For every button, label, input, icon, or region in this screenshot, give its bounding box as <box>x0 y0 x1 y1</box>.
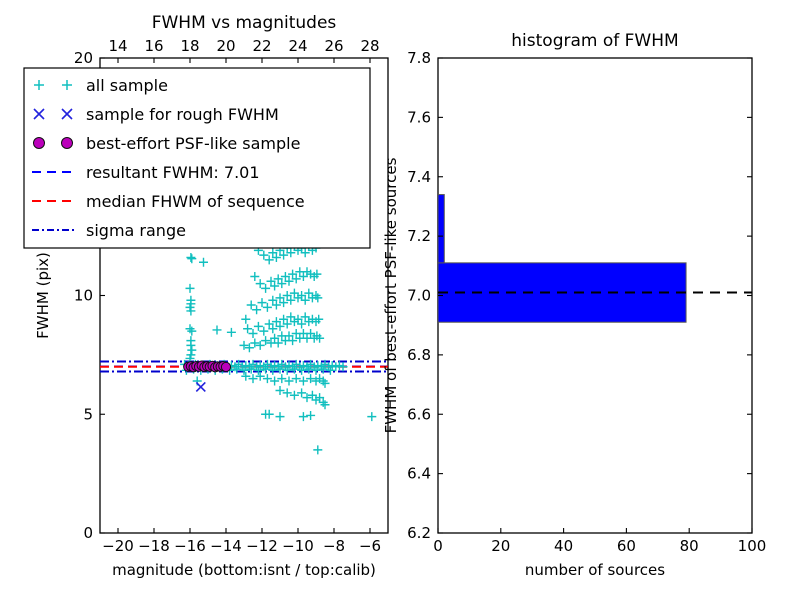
legend-item-label: sigma range <box>86 221 186 240</box>
histogram-bar <box>438 195 444 263</box>
legend-marker-dot-icon <box>62 138 73 149</box>
figure-canvas: −20−18−16−14−12−10−8−6magnitude (bottom:… <box>0 0 800 600</box>
right-ytick-label: 7.4 <box>407 168 431 186</box>
left-xtick-bottom-label: −8 <box>323 537 345 555</box>
right-xtick-label: 40 <box>554 537 573 555</box>
right-ytick-label: 6.6 <box>407 405 431 423</box>
legend-item-label: resultant FWHM: 7.01 <box>86 163 260 182</box>
left-xaxis-label: magnitude (bottom:isnt / top:calib) <box>112 561 376 579</box>
left-xtick-bottom-label: −6 <box>359 537 381 555</box>
left-xtick-top-label: 26 <box>324 37 343 55</box>
left-xtick-top-label: 24 <box>288 37 307 55</box>
left-xtick-bottom-label: −14 <box>210 537 242 555</box>
left-xaxis-bottom: −20−18−16−14−12−10−8−6magnitude (bottom:… <box>102 528 381 579</box>
left-ytick-label: 20 <box>74 49 93 67</box>
left-ytick-label: 5 <box>83 405 93 423</box>
left-xtick-bottom-label: −12 <box>246 537 278 555</box>
right-xtick-label: 100 <box>738 537 767 555</box>
right-xaxis-label: number of sources <box>525 561 665 579</box>
left-xtick-bottom-label: −10 <box>282 537 314 555</box>
series-best-effort-psf-like-sample <box>184 361 231 372</box>
right-yaxis-label: FWHM of best-effort PSF-like sources <box>382 157 400 433</box>
right-ytick-label: 6.8 <box>407 346 431 364</box>
right-ytick-label: 7.6 <box>407 108 431 126</box>
right-ytick-label: 6.2 <box>407 524 431 542</box>
figure-svg: −20−18−16−14−12−10−8−6magnitude (bottom:… <box>0 0 800 600</box>
left-yaxis-label: FWHM (pix) <box>34 252 52 339</box>
right-ytick-label: 7.2 <box>407 227 431 245</box>
right-ytick-label: 7.0 <box>407 287 431 305</box>
left-xtick-bottom-label: −16 <box>174 537 206 555</box>
right-plot-title: histogram of FWHM <box>511 31 678 51</box>
legend-item-label: sample for rough FWHM <box>86 105 279 124</box>
left-xtick-top-label: 22 <box>252 37 271 55</box>
right-panel-histogram: 020406080100number of sources6.26.46.66.… <box>382 31 766 579</box>
right-xtick-label: 20 <box>491 537 510 555</box>
legend-item-label: all sample <box>86 76 168 95</box>
left-xtick-top-label: 16 <box>144 37 163 55</box>
scatter-point-dot <box>221 362 230 371</box>
legend-marker-dot-icon <box>34 138 45 149</box>
right-xtick-label: 80 <box>680 537 699 555</box>
legend-item-label: median FHWM of sequence <box>86 192 305 211</box>
left-xtick-top-label: 18 <box>180 37 199 55</box>
left-xtick-top-label: 20 <box>216 37 235 55</box>
left-xtick-bottom-label: −20 <box>102 537 134 555</box>
legend-box <box>24 68 370 248</box>
right-ytick-label: 6.4 <box>407 465 431 483</box>
right-xtick-label: 0 <box>433 537 443 555</box>
left-xtick-bottom-label: −18 <box>138 537 170 555</box>
left-ytick-label: 10 <box>74 287 93 305</box>
left-ytick-label: 0 <box>83 524 93 542</box>
left-plot-title: FWHM vs magnitudes <box>152 13 337 33</box>
right-xaxis: 020406080100number of sources <box>433 528 766 579</box>
left-plot-legend: all samplesample for rough FWHMbest-effo… <box>24 68 370 248</box>
legend-item-label: best-effort PSF-like sample <box>86 134 300 153</box>
left-xaxis-top: 1416182022242628FWHM vs magnitudes <box>108 13 379 63</box>
left-xtick-top-label: 28 <box>360 37 379 55</box>
left-xtick-top-label: 14 <box>108 37 127 55</box>
right-xtick-label: 60 <box>617 537 636 555</box>
right-ytick-label: 7.8 <box>407 49 431 67</box>
